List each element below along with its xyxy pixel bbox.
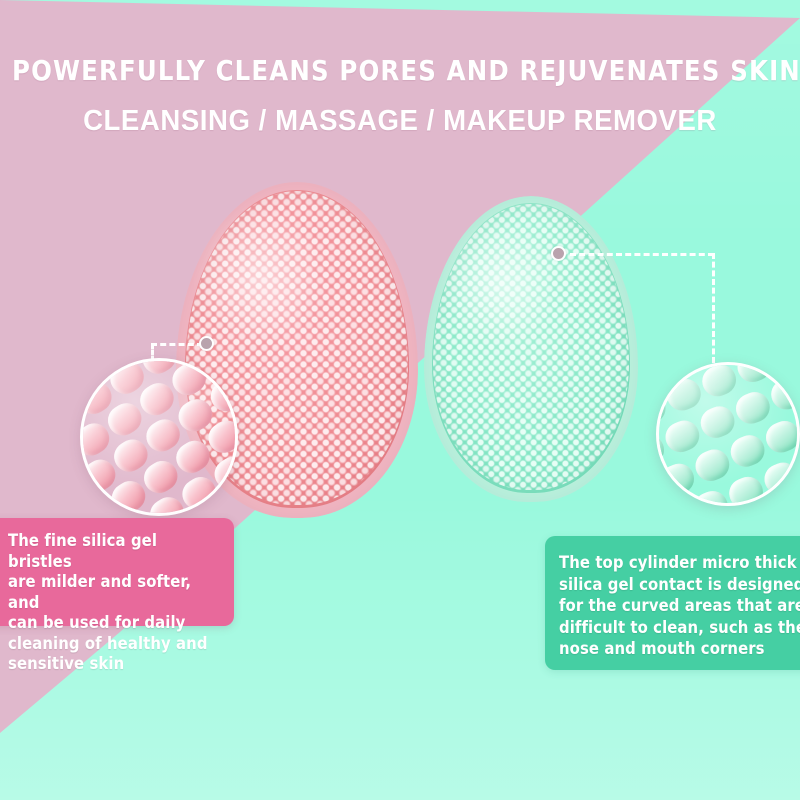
product-feature-banner: POWERFULLY CLEANS PORES AND REJUVENATES … bbox=[0, 0, 800, 800]
pink-bristle-magnifier bbox=[80, 358, 238, 516]
green-callout-leader-horizontal bbox=[570, 253, 714, 256]
pink-callout-marker-dot bbox=[199, 336, 214, 351]
right-feature-caption: The top cylinder micro thick silica gel … bbox=[545, 536, 800, 670]
left-feature-caption: The fine silica gel bristles are milder … bbox=[0, 518, 234, 626]
pink-callout-leader-horizontal bbox=[151, 343, 203, 346]
green-callout-leader-vertical bbox=[712, 253, 715, 363]
pink-magnifier-gloss bbox=[83, 361, 235, 513]
green-callout-marker-dot bbox=[551, 246, 566, 261]
green-bristle-magnifier bbox=[656, 362, 800, 506]
pink-brush-handle-lower bbox=[238, 630, 360, 800]
green-magnifier-gloss bbox=[659, 365, 797, 503]
